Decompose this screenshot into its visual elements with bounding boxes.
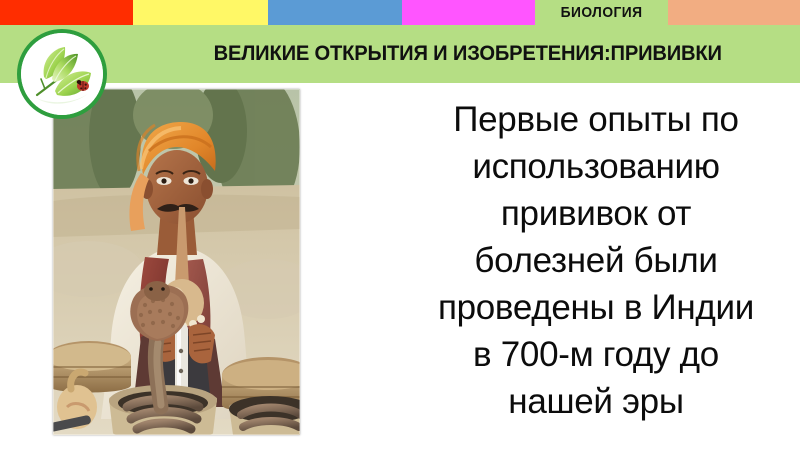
snake-charmer-photo (53, 89, 300, 435)
strip-segment-yellow (133, 0, 268, 25)
subject-label: БИОЛОГИЯ (561, 4, 643, 21)
body-text-line: Первые опыты по (400, 96, 792, 143)
leaf-ladybug-logo (17, 29, 107, 119)
body-text-line: использованию (400, 143, 792, 190)
page-title-text: ВЕЛИКИЕ ОТКРЫТИЯ И ИЗОБРЕТЕНИЯ:ПРИВИВКИ (213, 42, 721, 66)
body-text-line: в 700-м году до (400, 331, 792, 378)
strip-segment-magenta (402, 0, 535, 25)
body-text-line: нашей эры (400, 378, 792, 425)
strip-segment-subject: БИОЛОГИЯ (535, 0, 668, 25)
strip-segment-peach (668, 0, 800, 25)
body-text-line: болезней были (400, 237, 792, 284)
page-title: ВЕЛИКИЕ ОТКРЫТИЯ И ИЗОБРЕТЕНИЯ:ПРИВИВКИ (140, 25, 795, 83)
photo-artwork (53, 89, 300, 435)
strip-segment-red (0, 0, 133, 25)
body-text-line: прививок от (400, 190, 792, 237)
strip-segment-blue (268, 0, 402, 25)
body-text-line: проведены в Индии (400, 284, 792, 331)
top-color-strip: БИОЛОГИЯ (0, 0, 800, 25)
logo-artwork (21, 33, 103, 115)
body-text: Первые опыты по использованию прививок о… (400, 96, 792, 425)
